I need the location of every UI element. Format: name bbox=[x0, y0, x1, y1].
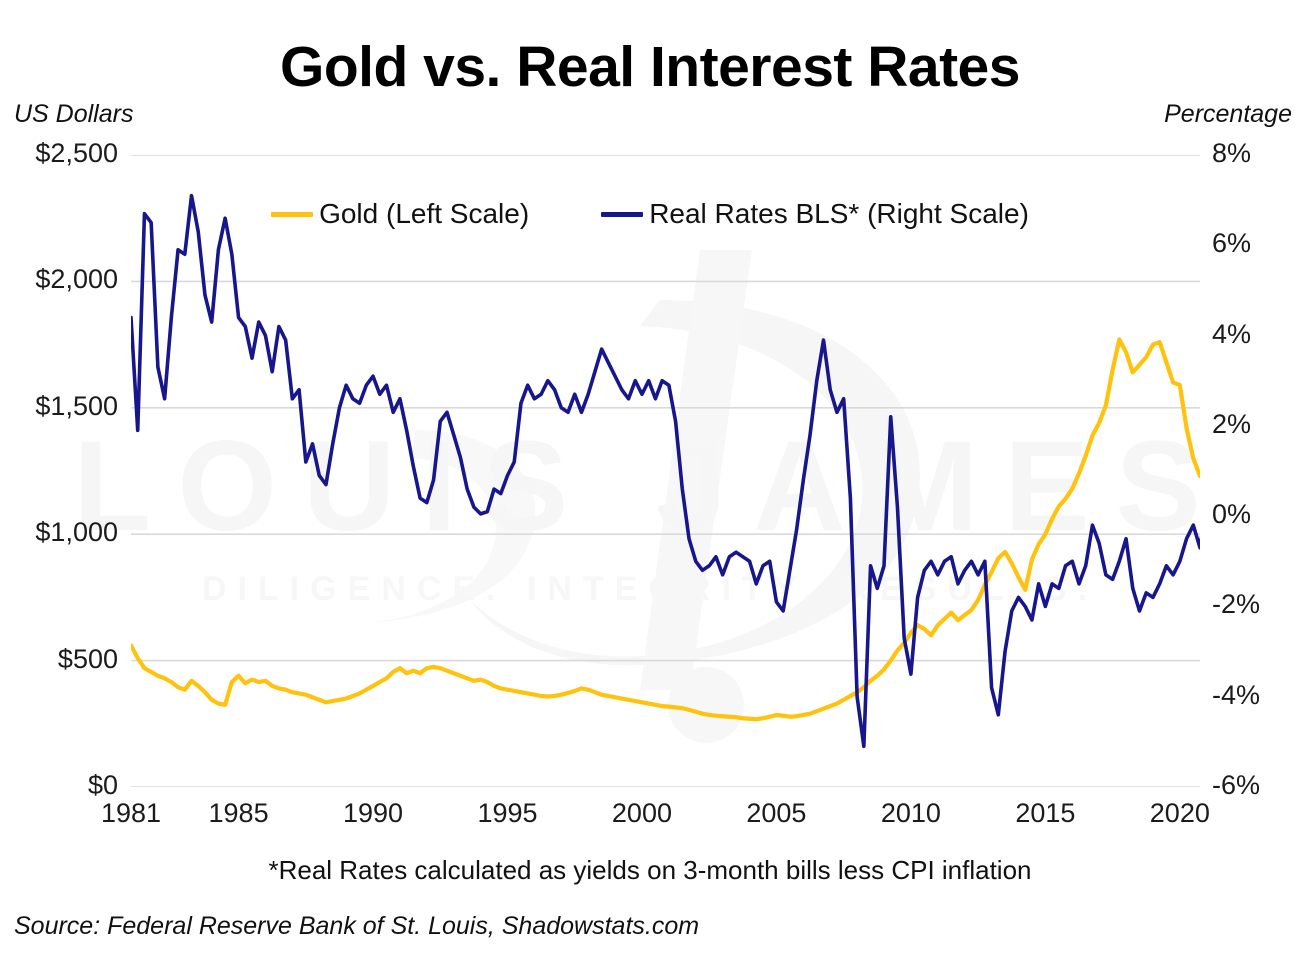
chart-footnote: *Real Rates calculated as yields on 3-mo… bbox=[0, 855, 1300, 886]
y-axis-right-tick: -4% bbox=[1212, 682, 1300, 709]
x-axis-tick: 1995 bbox=[477, 800, 537, 827]
x-axis-tick: 2020 bbox=[1150, 800, 1210, 827]
x-axis-tick: 2015 bbox=[1015, 800, 1075, 827]
plot-svg bbox=[131, 155, 1200, 787]
legend-label-gold: Gold (Left Scale) bbox=[319, 198, 529, 230]
x-axis-tick: 1990 bbox=[343, 800, 403, 827]
y-axis-left-tick: $2,000 bbox=[8, 266, 118, 293]
y-axis-left-tick: $0 bbox=[8, 772, 118, 799]
chart-source: Source: Federal Reserve Bank of St. Loui… bbox=[14, 912, 699, 941]
chart-title: Gold vs. Real Interest Rates bbox=[0, 38, 1300, 98]
legend-item-real-rates[interactable]: Real Rates BLS* (Right Scale) bbox=[601, 198, 1029, 230]
x-axis-tick: 1981 bbox=[101, 800, 161, 827]
right-axis-caption: Percentage bbox=[1164, 100, 1292, 129]
x-axis-tick: 2010 bbox=[881, 800, 941, 827]
plot-area bbox=[131, 155, 1200, 787]
x-axis-tick: 1985 bbox=[209, 800, 269, 827]
y-axis-right-tick: 4% bbox=[1212, 321, 1300, 348]
y-axis-left-tick: $1,000 bbox=[8, 519, 118, 546]
series-line-gold bbox=[131, 289, 1200, 719]
legend-swatch-real-rates bbox=[601, 212, 643, 217]
chart-figure: LOUIS JAMES DILIGENCE. INTEGRITY. RESULT… bbox=[0, 0, 1300, 972]
left-axis-caption: US Dollars bbox=[14, 100, 133, 129]
x-axis-tick: 2000 bbox=[612, 800, 672, 827]
y-axis-right-tick: -2% bbox=[1212, 591, 1300, 618]
x-axis-tick: 2005 bbox=[746, 800, 806, 827]
y-axis-left-tick: $500 bbox=[8, 646, 118, 673]
legend-swatch-gold bbox=[271, 212, 313, 217]
y-axis-right-tick: 2% bbox=[1212, 411, 1300, 438]
y-axis-right-tick: 0% bbox=[1212, 501, 1300, 528]
y-axis-right-tick: 6% bbox=[1212, 230, 1300, 257]
y-axis-right-tick: 8% bbox=[1212, 140, 1300, 167]
legend-item-gold[interactable]: Gold (Left Scale) bbox=[271, 198, 529, 230]
y-axis-left-tick: $2,500 bbox=[8, 140, 118, 167]
series-line-real-rates bbox=[131, 196, 1200, 747]
legend-label-real-rates: Real Rates BLS* (Right Scale) bbox=[649, 198, 1029, 230]
y-axis-left-tick: $1,500 bbox=[8, 393, 118, 420]
y-axis-right-tick: -6% bbox=[1212, 772, 1300, 799]
